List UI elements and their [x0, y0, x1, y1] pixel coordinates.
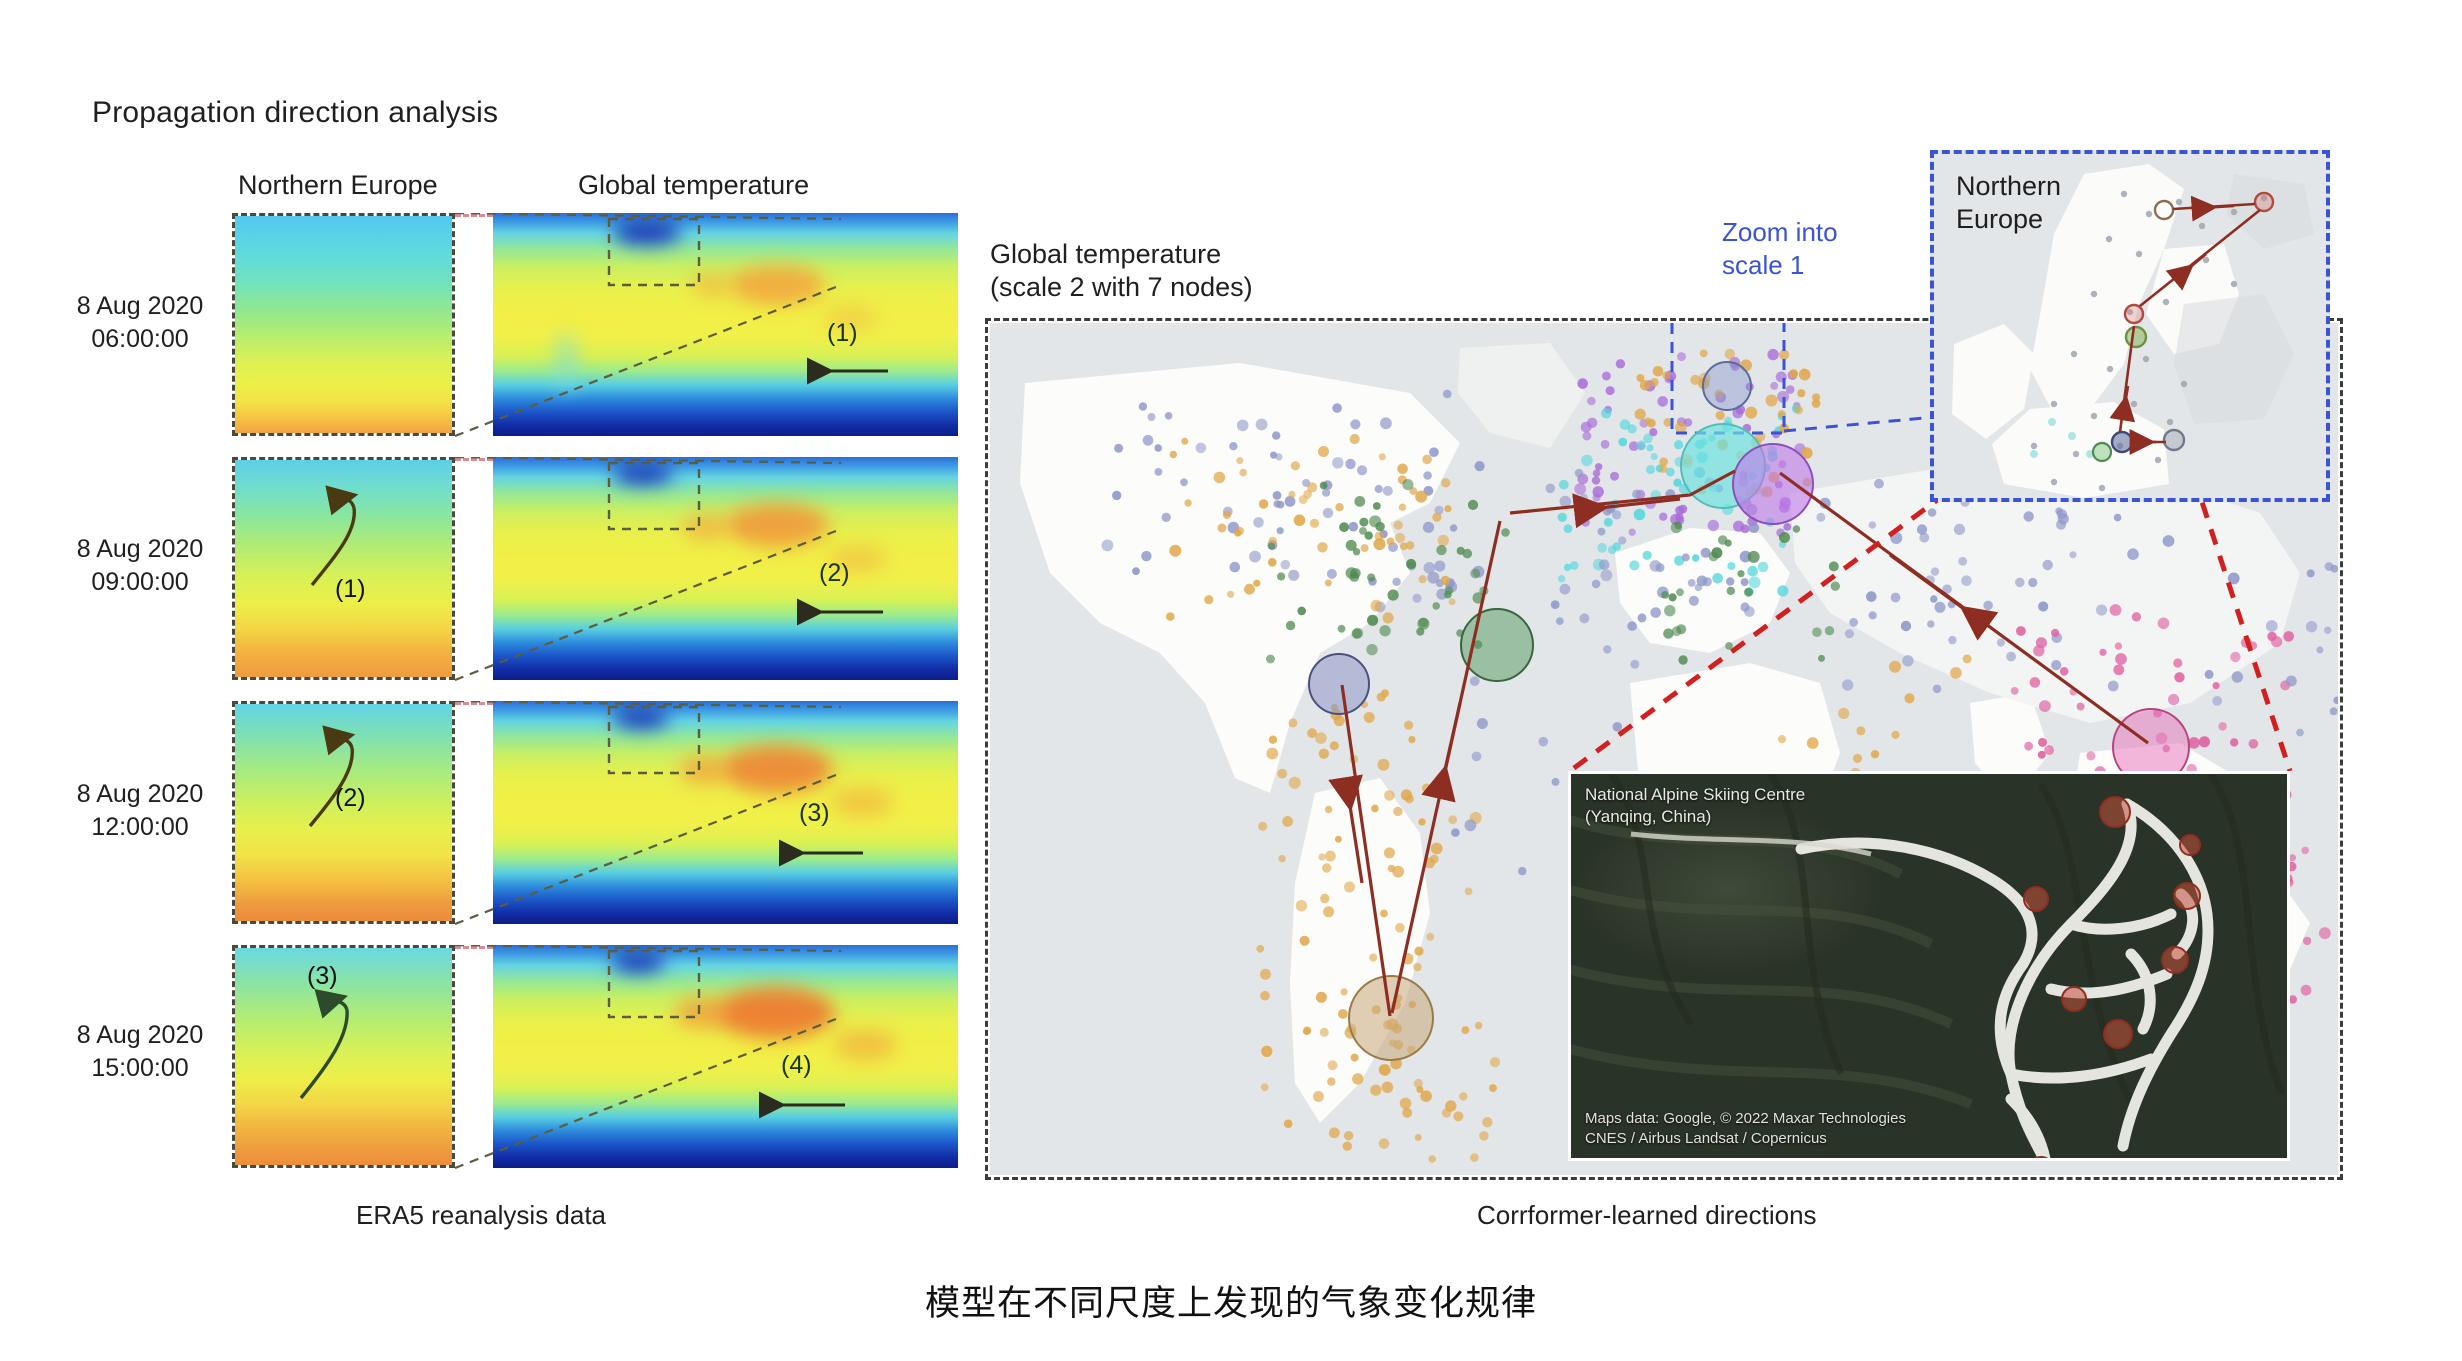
right-panel-title-line2: (scale 2 with 7 nodes) [990, 271, 1253, 304]
ne-inset-label-line2: Europe [1956, 203, 2061, 236]
left-footer-caption: ERA5 reanalysis data [356, 1200, 606, 1231]
ne-inset-label-line1: Northern [1956, 170, 2061, 203]
northern-europe-inset-label: Northern Europe [1956, 170, 2061, 236]
row-date-2: 8 Aug 2020 [40, 778, 240, 811]
satellite-attr-line1: Maps data: Google, © 2022 Maxar Technolo… [1585, 1109, 1906, 1129]
satellite-label-line2: (Yanqing, China) [1585, 806, 1805, 828]
ski-marker-8[interactable] [2179, 834, 2201, 856]
row-time-3: 15:00:00 [40, 1052, 240, 1085]
ski-marker-6[interactable] [2103, 1019, 2133, 1049]
row-label-3: 8 Aug 2020 15:00:00 [40, 1019, 240, 1084]
column-header-global-temperature: Global temperature [578, 170, 809, 201]
satellite-inset-label: National Alpine Skiing Centre (Yanqing, … [1585, 784, 1805, 828]
row-time-1: 09:00:00 [40, 566, 240, 599]
row-date-3: 8 Aug 2020 [40, 1019, 240, 1052]
northern-europe-inset[interactable]: Northern Europe [1930, 150, 2330, 502]
zoom-link-row-0 [232, 213, 962, 443]
row-date-1: 8 Aug 2020 [40, 533, 240, 566]
satellite-label-line1: National Alpine Skiing Centre [1585, 784, 1805, 806]
row-date-0: 8 Aug 2020 [40, 290, 240, 323]
zoom-label-line1: Zoom into [1722, 216, 1838, 249]
column-header-northern-europe: Northern Europe [238, 170, 438, 201]
satellite-inset[interactable]: National Alpine Skiing Centre (Yanqing, … [1568, 771, 2290, 1161]
ski-marker-2[interactable] [2023, 886, 2049, 912]
ski-marker-4[interactable] [2161, 946, 2189, 974]
row-time-0: 06:00:00 [40, 323, 240, 356]
satellite-attr-line2: CNES / Airbus Landsat / Copernicus [1585, 1129, 1906, 1149]
ski-marker-3[interactable] [2173, 882, 2201, 910]
ski-marker-1[interactable] [2099, 796, 2131, 828]
bottom-caption-chinese: 模型在不同尺度上发现的气象变化规律 [0, 1275, 2462, 1326]
row-label-0: 8 Aug 2020 06:00:00 [40, 290, 240, 355]
zoom-link-row-2 [232, 701, 962, 931]
row-label-1: 8 Aug 2020 09:00:00 [40, 533, 240, 598]
zoom-link-row-1 [232, 457, 962, 687]
ski-marker-5[interactable] [2061, 986, 2087, 1012]
satellite-attribution: Maps data: Google, © 2022 Maxar Technolo… [1585, 1109, 1906, 1148]
figure-title: Propagation direction analysis [92, 96, 498, 130]
zoom-into-scale-label: Zoom into scale 1 [1722, 216, 1838, 282]
right-panel-title-line1: Global temperature [990, 238, 1253, 271]
zoom-link-row-3 [232, 945, 962, 1175]
zoom-label-line2: scale 1 [1722, 249, 1838, 282]
row-label-2: 8 Aug 2020 12:00:00 [40, 778, 240, 843]
right-panel-title: Global temperature (scale 2 with 7 nodes… [990, 238, 1253, 304]
right-footer-caption: Corrformer-learned directions [1477, 1200, 1817, 1231]
row-time-2: 12:00:00 [40, 811, 240, 844]
